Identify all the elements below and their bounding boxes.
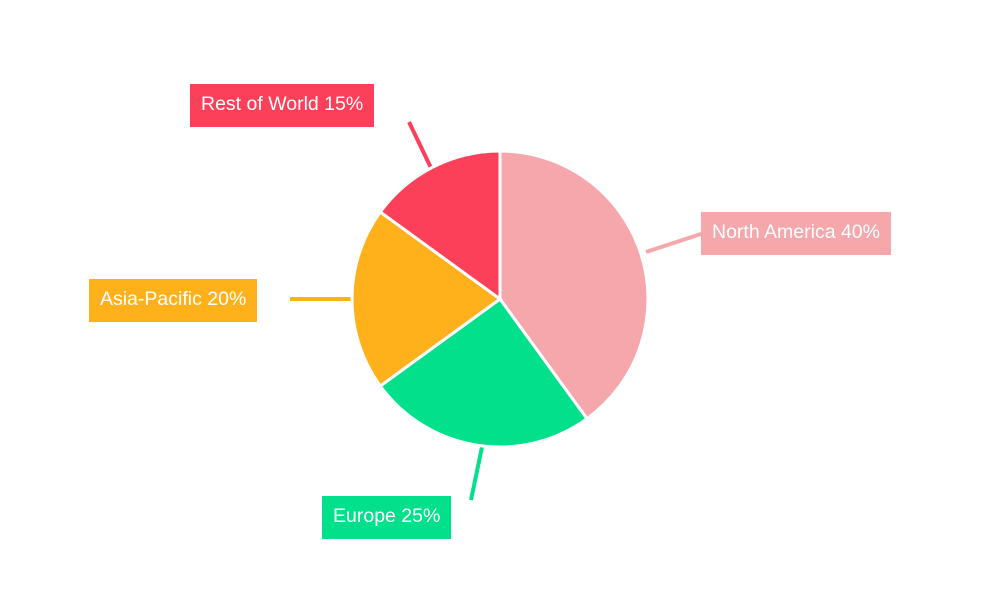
- pie-label-asia-pacific: Asia-Pacific 20%: [89, 279, 257, 322]
- leader-line-rest-of-world: [409, 122, 432, 170]
- pie-label-rest-of-world: Rest of World 15%: [190, 84, 374, 127]
- pie-chart-container: North America 40% Europe 25% Asia-Pacifi…: [0, 0, 1000, 600]
- leader-line-europe: [471, 447, 482, 500]
- pie-slice-group: [352, 151, 648, 447]
- leader-line-north-america: [646, 232, 707, 252]
- pie-label-europe: Europe 25%: [322, 496, 451, 539]
- pie-label-north-america: North America 40%: [701, 212, 891, 255]
